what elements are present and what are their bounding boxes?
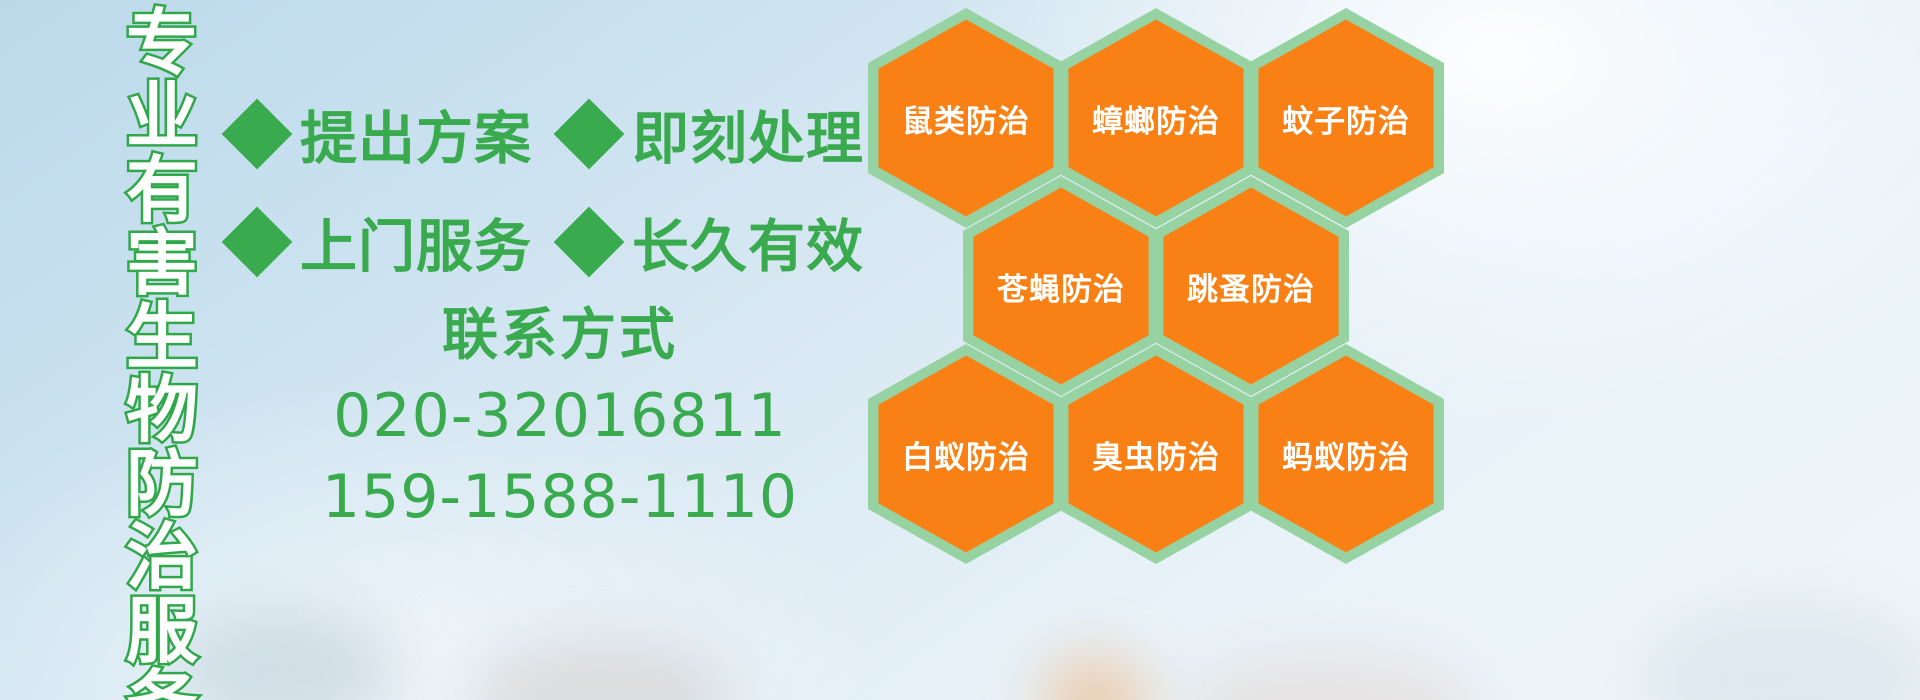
- feature-item-long-lasting: 长久有效: [564, 201, 864, 283]
- background-blob: [1180, 650, 1480, 700]
- service-label: 臭虫防治: [1058, 344, 1254, 564]
- background-blob: [1040, 655, 1150, 700]
- diamond-bullet-icon: [554, 207, 625, 278]
- vertical-headline: 专业有害生物防治服务: [108, 8, 216, 700]
- feature-item-immediate-handling: 即刻处理: [564, 93, 864, 175]
- background-blob: [470, 640, 730, 700]
- service-label: 白蚁防治: [868, 344, 1064, 564]
- phone-number-mobile[interactable]: 159-1588-1110: [300, 457, 820, 538]
- feature-list: 提出方案 即刻处理 上门服务 长久有效: [232, 80, 872, 296]
- feature-label: 提出方案: [300, 93, 532, 175]
- feature-row: 提出方案 即刻处理: [232, 80, 872, 188]
- feature-item-propose-plan: 提出方案: [232, 93, 532, 175]
- contact-block: 联系方式 020-32016811 159-1588-1110: [300, 300, 820, 538]
- service-hex-ant[interactable]: 蚂蚁防治: [1248, 344, 1444, 564]
- feature-row: 上门服务 长久有效: [232, 188, 872, 296]
- diamond-bullet-icon: [554, 99, 625, 170]
- service-hexagon-cluster: 鼠类防治 蟑螂防治 蚊子防治 苍蝇防治 跳蚤防治 白蚁防治: [862, 0, 1482, 560]
- phone-number-landline[interactable]: 020-32016811: [300, 376, 820, 457]
- service-label: 蚂蚁防治: [1248, 344, 1444, 564]
- feature-item-onsite-service: 上门服务: [232, 201, 532, 283]
- service-hex-bedbug[interactable]: 臭虫防治: [1058, 344, 1254, 564]
- feature-label: 即刻处理: [632, 93, 864, 175]
- promo-banner: 专业有害生物防治服务 提出方案 即刻处理 上门服务 长久有效: [0, 0, 1920, 700]
- feature-label: 上门服务: [300, 201, 532, 283]
- background-blob: [1640, 600, 1920, 700]
- service-hex-termite[interactable]: 白蚁防治: [868, 344, 1064, 564]
- feature-label: 长久有效: [632, 201, 864, 283]
- contact-heading: 联系方式: [300, 300, 820, 370]
- diamond-bullet-icon: [222, 207, 293, 278]
- diamond-bullet-icon: [222, 99, 293, 170]
